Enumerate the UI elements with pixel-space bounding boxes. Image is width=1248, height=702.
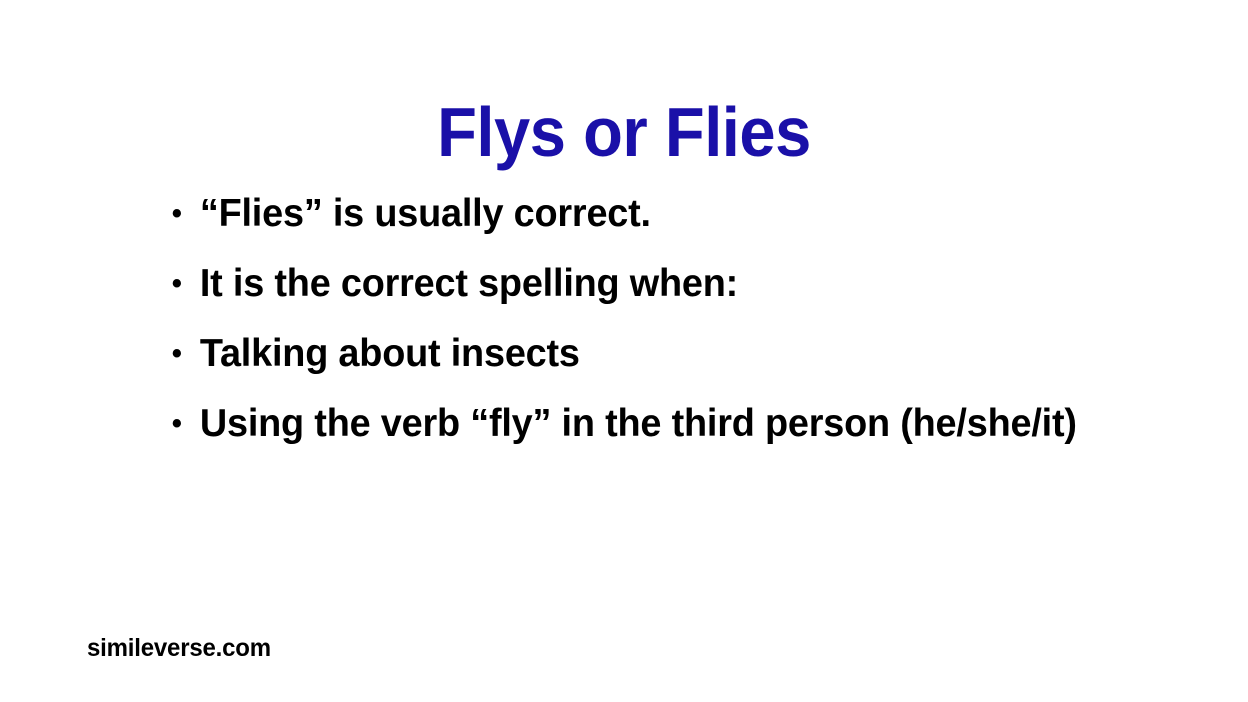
presentation-slide: Flys or Flies • “Flies” is usually corre… [0, 0, 1248, 702]
bullet-dot-icon: • [172, 185, 186, 243]
list-item-label: Using the verb “fly” in the third person… [200, 395, 1114, 453]
list-item-label: It is the correct spelling when: [200, 255, 1114, 313]
bullet-dot-icon: • [172, 395, 186, 453]
bullet-dot-icon: • [172, 255, 186, 313]
list-item: • It is the correct spelling when: [163, 255, 1114, 313]
list-item: • “Flies” is usually correct. [163, 185, 1114, 243]
footer-site-url: simileverse.com [87, 633, 271, 663]
list-item: • Using the verb “fly” in the third pers… [163, 395, 1114, 453]
list-item: • Talking about insects [163, 325, 1114, 383]
list-item-label: Talking about insects [200, 325, 1114, 383]
list-item-label: “Flies” is usually correct. [200, 185, 1114, 243]
page-title: Flys or Flies [44, 97, 1205, 167]
bullet-dot-icon: • [172, 325, 186, 383]
bullet-list: • “Flies” is usually correct. • It is th… [163, 185, 1143, 453]
